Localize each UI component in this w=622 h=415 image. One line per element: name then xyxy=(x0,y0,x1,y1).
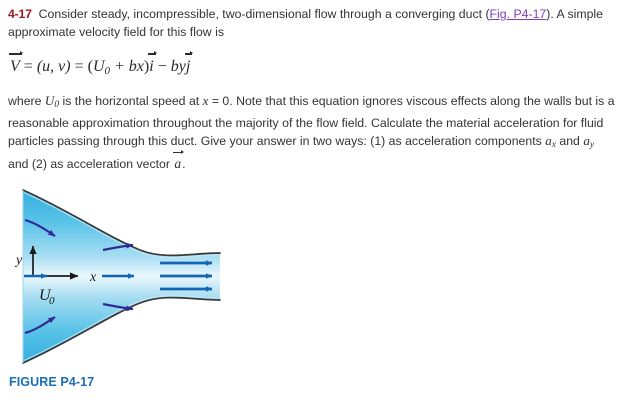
by-term: by xyxy=(171,58,186,75)
i-hat-symbol: i xyxy=(149,58,153,76)
figure-caption: FIGURE P4-17 xyxy=(9,375,94,389)
figure-converging-duct: y x U 0 xyxy=(0,178,420,374)
problem-body-text: where U0 is the horizontal speed at x = … xyxy=(8,92,616,174)
j-hat-symbol: j xyxy=(186,58,190,76)
velocity-field-equation: V = (u, v) = (U0 + bx)i − byj xyxy=(8,58,614,88)
equation-minus: − xyxy=(158,58,167,75)
body-seg6: . xyxy=(182,157,185,171)
x-axis-label: x xyxy=(89,270,97,285)
ay-subscript: y xyxy=(590,140,594,150)
U0-subscript: 0 xyxy=(105,65,111,77)
body-U-symbol: U xyxy=(45,93,54,108)
body-seg4: and xyxy=(556,134,583,148)
body-seg5: and (2) as acceleration vector xyxy=(8,157,173,171)
equation-equals-1: = xyxy=(24,58,33,75)
U0-symbol: U xyxy=(93,58,105,75)
plus-bx-term: + bx xyxy=(114,58,144,75)
body-seg1: where xyxy=(8,94,45,108)
problem-statement: 4-17 Consider steady, incompressible, tw… xyxy=(8,6,614,41)
problem-number: 4-17 xyxy=(8,7,32,21)
problem-text-part1 xyxy=(32,7,39,21)
velocity-components: (u, v) xyxy=(37,58,71,75)
problem-text-before-link: Consider steady, incompressible, two-dim… xyxy=(39,7,490,21)
acceleration-vector-symbol: a xyxy=(173,155,182,173)
figure-cross-reference-link[interactable]: Fig. P4-17 xyxy=(490,7,547,21)
equation-equals-2: = xyxy=(75,58,84,75)
inlet-speed-subscript: 0 xyxy=(49,295,55,307)
velocity-vector-symbol: V xyxy=(10,58,20,76)
y-axis-label: y xyxy=(14,253,23,268)
body-seg2: is the horizontal speed at xyxy=(59,94,203,108)
